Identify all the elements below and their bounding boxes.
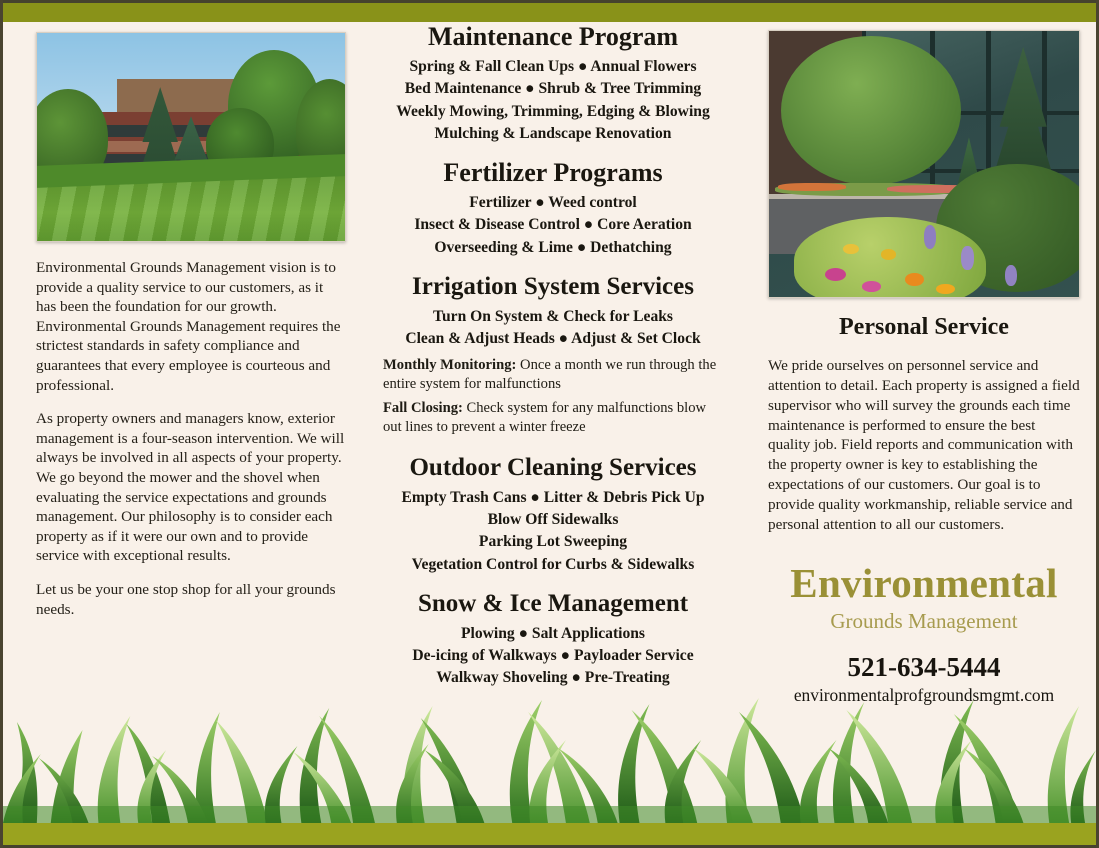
section-heading: Irrigation System Services — [383, 272, 723, 302]
section-maintenance-program: Maintenance Program Spring & Fall Clean … — [383, 22, 723, 145]
right-column: Personal Service We pride ourselves on p… — [768, 22, 1080, 706]
top-olive-band — [3, 0, 1096, 22]
service-line: Plowing ● Salt Applications — [383, 623, 723, 645]
section-outdoor-cleaning-services: Outdoor Cleaning Services Empty Trash Ca… — [383, 453, 723, 576]
landscaped-flower-bed-photo — [768, 30, 1080, 298]
phone-number: 521-634-5444 — [768, 651, 1080, 683]
note-label: Fall Closing: — [383, 400, 463, 416]
website-url: environmentalprofgroundsmgmt.com — [768, 684, 1080, 706]
service-line: Mulching & Landscape Renovation — [383, 123, 723, 145]
office-building-lawn-photo — [36, 32, 346, 242]
flower-row-left — [778, 183, 846, 191]
company-tagline: Grounds Management — [768, 608, 1080, 634]
service-line: Walkway Shoveling ● Pre-Treating — [383, 667, 723, 689]
service-line: Empty Trash Cans ● Litter & Debris Pick … — [383, 487, 723, 509]
middle-column: Maintenance Program Spring & Fall Clean … — [383, 22, 723, 706]
section-heading: Outdoor Cleaning Services — [383, 453, 723, 483]
brochure-content: Environmental Grounds Management vision … — [3, 22, 1096, 823]
service-line: Turn On System & Check for Leaks — [383, 306, 723, 328]
flower-purple-3 — [1005, 265, 1017, 286]
flower-purple-2 — [961, 246, 973, 270]
section-heading: Fertilizer Programs — [383, 158, 723, 188]
section-snow-ice-management: Snow & Ice Management Plowing ● Salt App… — [383, 589, 723, 690]
left-column: Environmental Grounds Management vision … — [36, 22, 346, 633]
service-line: Bed Maintenance ● Shrub & Tree Trimming — [383, 78, 723, 100]
service-line: Clean & Adjust Heads ● Adjust & Set Cloc… — [383, 328, 723, 350]
section-irrigation-system-services: Irrigation System Services Turn On Syste… — [383, 272, 723, 437]
section-heading: Snow & Ice Management — [383, 589, 723, 619]
mown-lawn — [37, 170, 345, 241]
flower-pink-2 — [862, 281, 881, 292]
section-fertilizer-programs: Fertilizer Programs Fertilizer ● Weed co… — [383, 158, 723, 259]
service-line: De-icing of Walkways ● Payloader Service — [383, 645, 723, 667]
four-season-paragraph: As property owners and managers know, ex… — [36, 409, 346, 566]
monthly-monitoring-note: Monthly Monitoring: Once a month we run … — [383, 356, 723, 394]
one-stop-shop-paragraph: Let us be your one stop shop for all you… — [36, 580, 346, 619]
canopy-tree — [781, 36, 961, 185]
service-line: Blow Off Sidewalks — [383, 509, 723, 531]
service-line: Parking Lot Sweeping — [383, 531, 723, 553]
bottom-olive-band — [3, 823, 1096, 848]
service-line: Overseeding & Lime ● Dethatching — [383, 237, 723, 259]
service-line: Spring & Fall Clean Ups ● Annual Flowers — [383, 56, 723, 78]
section-heading: Maintenance Program — [383, 22, 723, 52]
flower-yellow-1 — [881, 249, 897, 260]
service-line: Insect & Disease Control ● Core Aeration — [383, 214, 723, 236]
service-line: Fertilizer ● Weed control — [383, 192, 723, 214]
fall-closing-note: Fall Closing: Check system for any malfu… — [383, 399, 723, 437]
company-name: Environmental — [768, 560, 1080, 606]
brochure-page: Environmental Grounds Management vision … — [0, 0, 1099, 848]
vision-paragraph: Environmental Grounds Management vision … — [36, 258, 346, 395]
personal-service-body: We pride ourselves on personnel service … — [768, 356, 1080, 534]
personal-service-heading: Personal Service — [768, 314, 1080, 341]
note-label: Monthly Monitoring: — [383, 357, 516, 373]
service-line: Vegetation Control for Curbs & Sidewalks — [383, 554, 723, 576]
service-line: Weekly Mowing, Trimming, Edging & Blowin… — [383, 101, 723, 123]
